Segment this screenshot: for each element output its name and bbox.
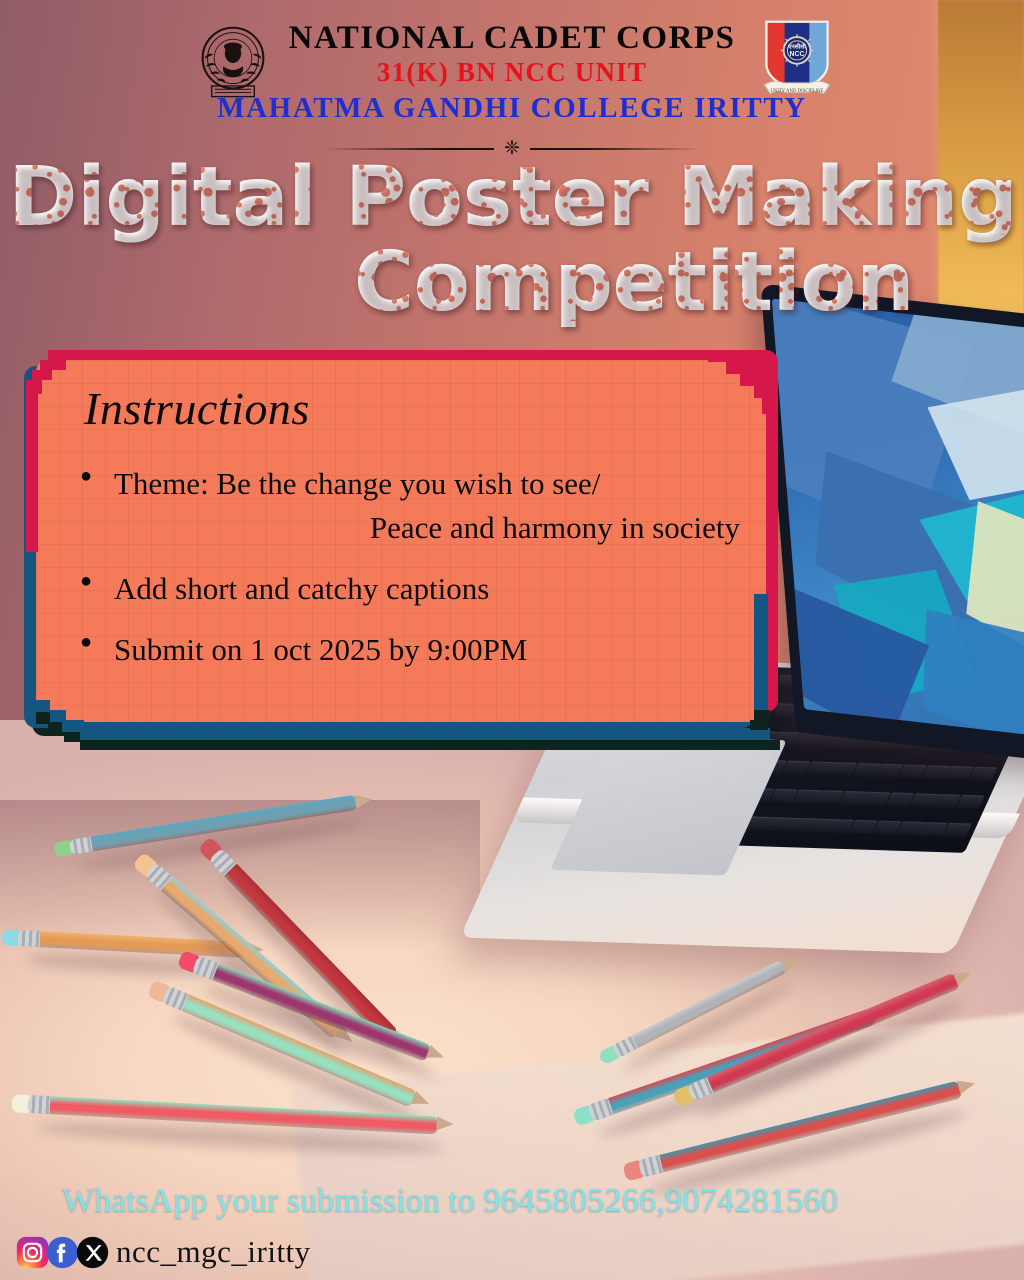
phone-numbers: 9645805266,9074281560 <box>483 1182 838 1219</box>
instructions-list: Theme: Be the change you wish to see/ Pe… <box>66 462 746 689</box>
title-line-2-texture: Competition <box>354 245 914 320</box>
poster-header: एनसीसी NCC UNITY AND DISCIPLINE NATIONAL… <box>0 0 1024 150</box>
pencil-tip <box>354 792 373 808</box>
x-twitter-icon[interactable] <box>76 1236 109 1269</box>
social-handle-text: ncc_mgc_iritty <box>116 1234 311 1270</box>
poster-title: Digital Poster Making Digital Poster Mak… <box>0 160 1024 321</box>
laptop-lid: ●●● <box>761 283 1024 766</box>
instagram-icon[interactable] <box>16 1236 49 1269</box>
pencil-tip <box>436 1116 454 1131</box>
card-content: Instructions Theme: Be the change you wi… <box>36 360 766 722</box>
college-name: MAHATMA GANDHI COLLEGE IRITTY <box>0 92 1024 125</box>
to-label: to <box>448 1182 474 1219</box>
laptop-screen <box>772 299 1024 742</box>
list-item-line-1: Submit on 1 oct 2025 by 9:00PM <box>114 632 527 667</box>
list-item-line-1: Theme: Be the change you wish to see/ <box>114 466 600 501</box>
facebook-icon[interactable] <box>46 1236 79 1269</box>
list-item: Add short and catchy captions <box>66 567 746 611</box>
poster-footer: WhatsApp your submission to 9645805266,9… <box>0 1170 1024 1280</box>
title-line-1-texture: Digital Poster Making <box>8 160 1017 235</box>
list-item: Submit on 1 oct 2025 by 9:00PM <box>66 628 746 672</box>
social-handle-row: ncc_mgc_iritty <box>16 1234 311 1270</box>
list-item-line-1: Add short and catchy captions <box>114 571 489 606</box>
list-item-line-2: Peace and harmony in society <box>114 506 746 550</box>
organization-name: NATIONAL CADET CORPS <box>0 20 1024 57</box>
unit-name: 31(K) BN NCC UNIT <box>0 57 1024 88</box>
instructions-card: Instructions Theme: Be the change you wi… <box>14 348 784 743</box>
pencil-ferrule <box>28 1095 51 1114</box>
title-line-2: Competition Competition <box>0 245 1024 320</box>
pencil-ferrule <box>18 930 41 947</box>
title-line-1: Digital Poster Making Digital Poster Mak… <box>0 160 1024 235</box>
instructions-heading: Instructions <box>84 382 310 435</box>
whatsapp-label: WhatsApp your submission <box>62 1182 440 1219</box>
list-item: Theme: Be the change you wish to see/ Pe… <box>66 462 746 550</box>
whatsapp-submission-line: WhatsApp your submission to 9645805266,9… <box>62 1182 838 1220</box>
poster-root: ●●● <box>0 0 1024 1280</box>
